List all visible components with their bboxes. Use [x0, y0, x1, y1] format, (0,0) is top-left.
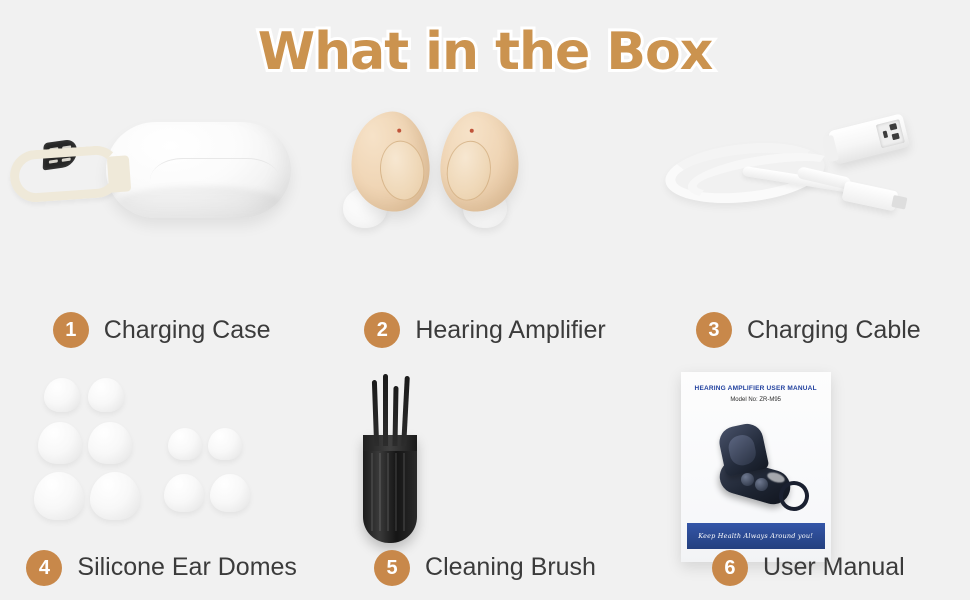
label-charging-case: Charging Case	[104, 316, 271, 345]
ear-dome	[34, 472, 84, 520]
earbud-face-right	[444, 138, 495, 203]
badge-1: 1	[53, 312, 89, 348]
caption-silicone-ear-domes: 4 Silicone Ear Domes	[0, 545, 323, 590]
page-title: What in the Box	[258, 22, 713, 82]
manual-model-label: Model No: ZR-M95	[681, 397, 831, 403]
earbud-right	[436, 108, 526, 217]
charging-case-image	[0, 100, 323, 290]
usb-a-connector	[828, 113, 910, 164]
cleaning-brush-image	[323, 370, 646, 545]
ear-dome	[88, 422, 132, 464]
ear-dome	[38, 422, 82, 464]
ear-dome	[90, 472, 140, 520]
earbud-indicator-right	[470, 129, 474, 133]
earbud-face-left	[377, 138, 428, 203]
page-header: What in the Box	[0, 22, 970, 82]
charging-cable-image	[647, 100, 970, 290]
badge-4: 4	[26, 550, 62, 586]
brush-handle	[363, 435, 417, 543]
label-hearing-amplifier: Hearing Amplifier	[415, 316, 605, 345]
ear-dome	[208, 428, 242, 460]
manual-bud-one	[741, 473, 754, 486]
label-silicone-ear-domes: Silicone Ear Domes	[77, 553, 297, 582]
ear-dome	[210, 474, 250, 512]
badge-3: 3	[696, 312, 732, 348]
charging-case-lanyard-joint	[107, 155, 131, 192]
ear-dome	[164, 474, 204, 512]
badge-5: 5	[374, 550, 410, 586]
micro-usb-connector	[841, 181, 898, 212]
manual-cover-photo	[705, 417, 809, 515]
earbud-indicator-left	[397, 128, 401, 132]
ear-dome	[44, 378, 80, 412]
ear-dome	[88, 378, 124, 412]
brush-bristle	[383, 374, 388, 446]
caption-user-manual: 6 User Manual	[647, 545, 970, 590]
label-user-manual: User Manual	[763, 553, 905, 582]
manual-case-lid-interior	[726, 433, 758, 468]
label-cleaning-brush: Cleaning Brush	[425, 553, 596, 582]
caption-charging-cable: 3 Charging Cable	[647, 290, 970, 370]
manual-footer-slogan: Keep Health Always Around you!	[698, 532, 813, 540]
ear-dome	[168, 428, 202, 460]
manual-case-lid	[716, 421, 769, 477]
hearing-amplifier-image	[323, 100, 646, 290]
caption-cleaning-brush: 5 Cleaning Brush	[323, 545, 646, 590]
charging-case-lanyard	[8, 144, 123, 204]
manual-bud-two	[755, 478, 768, 491]
caption-charging-case: 1 Charging Case	[0, 290, 323, 370]
badge-6: 6	[712, 550, 748, 586]
items-grid: 1 Charging Case 2 Hearing Amplifier 3 Ch…	[0, 100, 970, 590]
user-manual-cover: HEARING AMPLIFIER USER MANUAL Model No: …	[681, 372, 831, 562]
charging-case-shadow	[120, 186, 280, 216]
badge-2: 2	[364, 312, 400, 348]
brush-collar	[363, 435, 417, 451]
caption-hearing-amplifier: 2 Hearing Amplifier	[323, 290, 646, 370]
what-in-the-box-infographic: { "header": { "title": "What in the Box"…	[0, 0, 970, 600]
manual-cover-title: HEARING AMPLIFIER USER MANUAL	[681, 385, 831, 392]
user-manual-image: HEARING AMPLIFIER USER MANUAL Model No: …	[647, 370, 970, 545]
brush-bristle	[372, 380, 379, 446]
silicone-ear-domes-image	[0, 370, 323, 545]
label-charging-cable: Charging Cable	[747, 316, 921, 345]
